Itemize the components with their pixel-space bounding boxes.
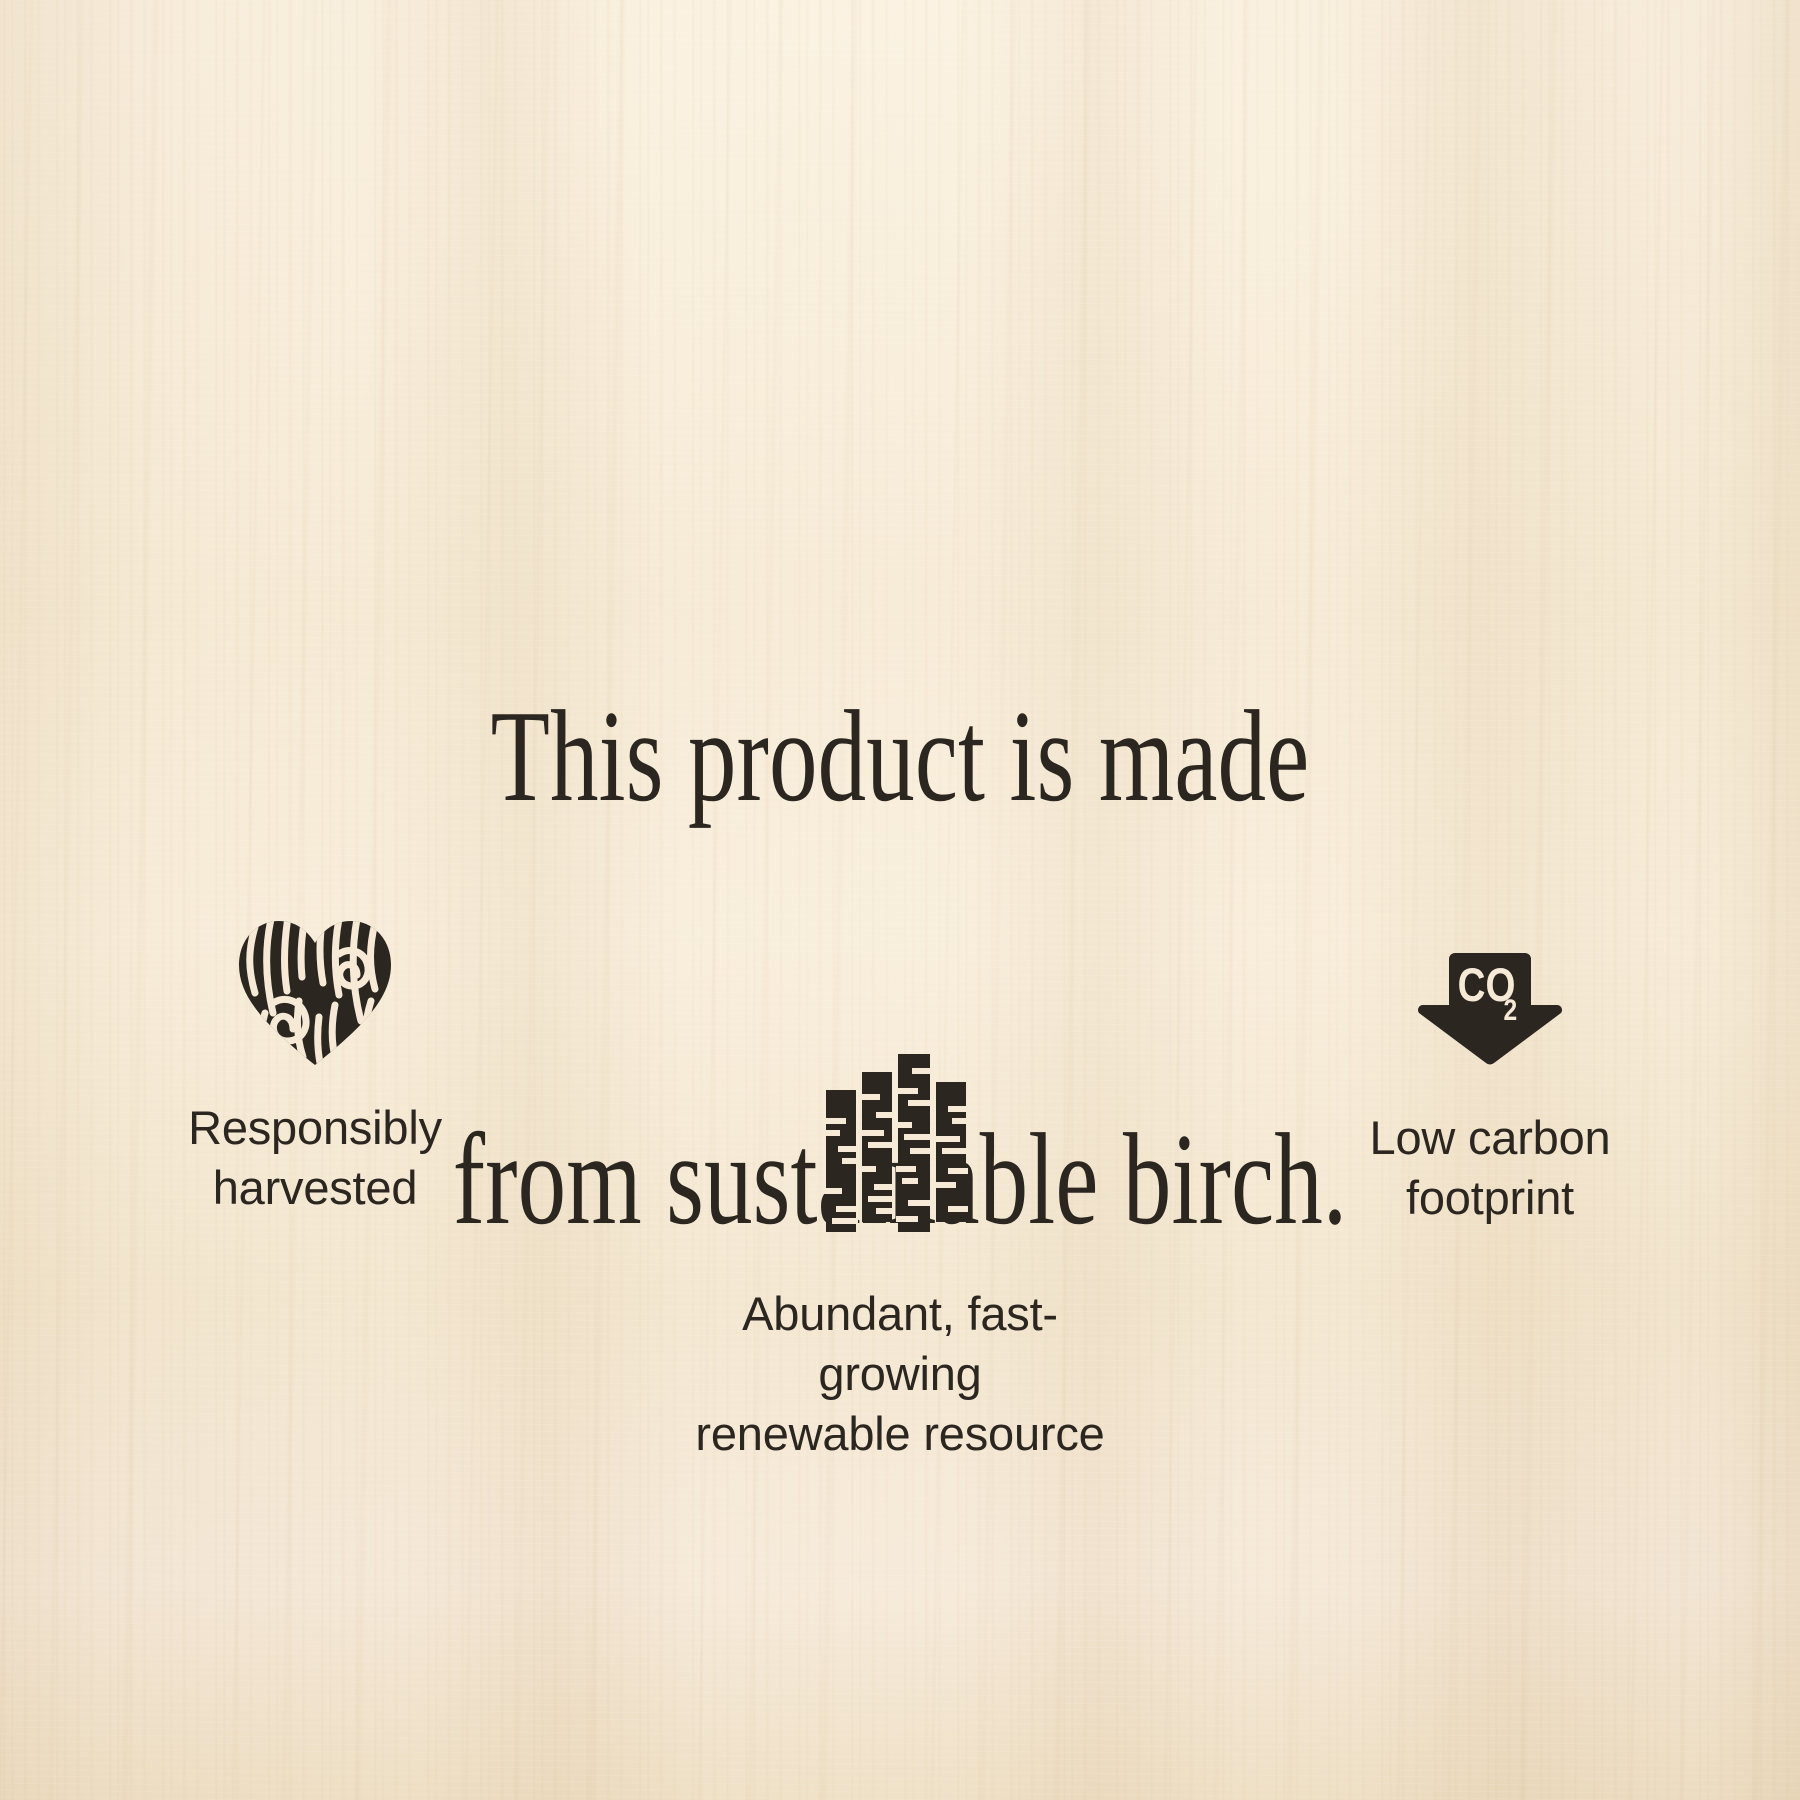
sustainable-birch-poster: This product is made from sustainable bi… [0, 0, 1800, 1800]
feature-icon-slot [675, 1040, 1125, 1232]
feature-label-responsibly-harvested: Responsibly harvested [90, 1098, 540, 1218]
feature-icon-slot [90, 915, 540, 1067]
feature-responsibly-harvested: Responsibly harvested [90, 915, 540, 1218]
headline-line-1: This product is made [234, 686, 1566, 827]
wood-grain-heart-icon [235, 917, 395, 1067]
co2-icon-subscript: 2 [1504, 993, 1518, 1027]
feature-icon-slot: CO 2 [1265, 925, 1715, 1067]
co2-down-arrow-icon: CO 2 [1415, 949, 1565, 1067]
birch-trunks-icon [824, 1054, 976, 1232]
feature-renewable-resource: Abundant, fast-growing renewable resourc… [675, 1040, 1125, 1464]
feature-label-low-carbon-footprint: Low carbon footprint [1265, 1108, 1715, 1228]
feature-low-carbon-footprint: CO 2 Low carbon footprint [1265, 925, 1715, 1228]
feature-label-renewable-resource: Abundant, fast-growing renewable resourc… [675, 1284, 1125, 1464]
